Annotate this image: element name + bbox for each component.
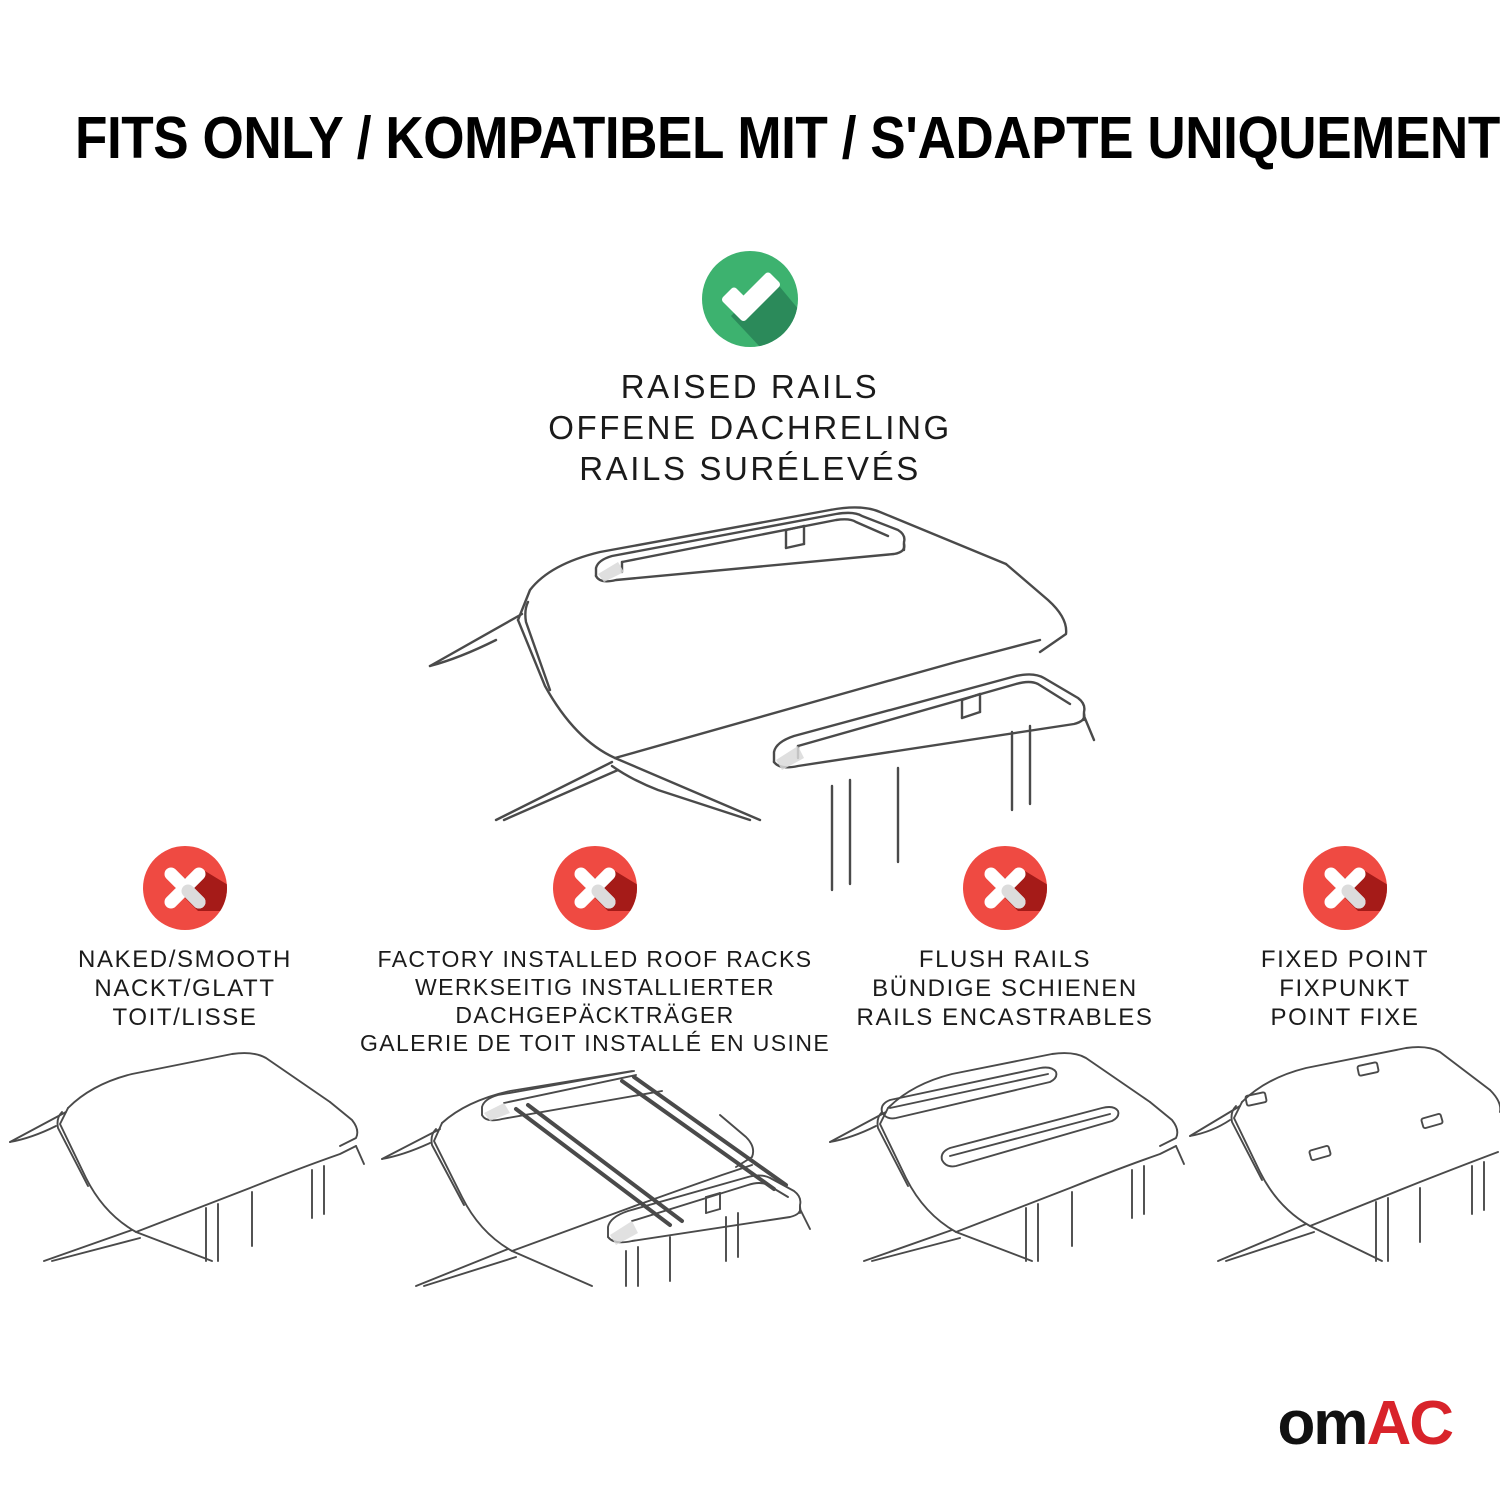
cross-circle-icon — [142, 845, 228, 931]
label-fr: POINT FIXE — [1261, 1003, 1429, 1032]
incompatible-labels-fixed-point: FIXED POINT FIXPUNKT POINT FIXE — [1261, 945, 1429, 1032]
label-de-2: DACHGEPÄCKTRÄGER — [360, 1001, 830, 1029]
compatible-label-fr: RAILS SURÉLEVÉS — [0, 448, 1500, 489]
label-en: FACTORY INSTALLED ROOF RACKS — [360, 945, 830, 973]
incompatible-item-naked-smooth: NAKED/SMOOTH NACKT/GLATT TOIT/LISSE — [0, 845, 370, 1261]
label-de-1: WERKSEITIG INSTALLIERTER — [360, 973, 830, 1001]
car-roof-raised-rails-illustration — [400, 490, 1100, 820]
incompatible-row: NAKED/SMOOTH NACKT/GLATT TOIT/LISSE — [0, 845, 1500, 1286]
compatible-section: RAISED RAILS OFFENE DACHRELING RAILS SUR… — [0, 250, 1500, 489]
label-en: NAKED/SMOOTH — [78, 945, 292, 974]
label-en: FIXED POINT — [1261, 945, 1429, 974]
fitment-infographic: FITS ONLY / KOMPATIBEL MIT / S'ADAPTE UN… — [0, 0, 1500, 1500]
incompatible-item-factory-roof-racks: FACTORY INSTALLED ROOF RACKS WERKSEITIG … — [370, 845, 820, 1286]
incompatible-item-fixed-point: FIXED POINT FIXPUNKT POINT FIXE — [1190, 845, 1500, 1261]
label-en: FLUSH RAILS — [857, 945, 1154, 974]
omac-logo: omAC — [1277, 1393, 1452, 1455]
page-title: FITS ONLY / KOMPATIBEL MIT / S'ADAPTE UN… — [75, 104, 1425, 172]
incompatible-labels-flush-rails: FLUSH RAILS BÜNDIGE SCHIENEN RAILS ENCAS… — [857, 945, 1154, 1032]
car-roof-fixed-point-illustration — [1190, 1046, 1500, 1261]
incompatible-labels-naked-smooth: NAKED/SMOOTH NACKT/GLATT TOIT/LISSE — [78, 945, 292, 1032]
label-fr: GALERIE DE TOIT INSTALLÉ EN USINE — [360, 1029, 830, 1057]
label-de: BÜNDIGE SCHIENEN — [857, 974, 1154, 1003]
cross-circle-icon — [1302, 845, 1388, 931]
label-de: NACKT/GLATT — [78, 974, 292, 1003]
check-circle-icon — [701, 250, 799, 348]
label-fr: RAILS ENCASTRABLES — [857, 1003, 1154, 1032]
car-roof-naked-smooth-illustration — [0, 1046, 370, 1261]
incompatible-labels-factory-roof-racks: FACTORY INSTALLED ROOF RACKS WERKSEITIG … — [360, 945, 830, 1057]
label-fr: TOIT/LISSE — [78, 1003, 292, 1032]
cross-circle-icon — [962, 845, 1048, 931]
car-roof-factory-roof-racks-illustration — [370, 1071, 820, 1286]
car-roof-flush-rails-illustration — [820, 1046, 1190, 1261]
compatible-label-en: RAISED RAILS — [0, 366, 1500, 407]
logo-text-om: om — [1277, 1393, 1366, 1455]
logo-text-ac: AC — [1366, 1393, 1452, 1455]
cross-circle-icon — [552, 845, 638, 931]
incompatible-item-flush-rails: FLUSH RAILS BÜNDIGE SCHIENEN RAILS ENCAS… — [820, 845, 1190, 1261]
label-de: FIXPUNKT — [1261, 974, 1429, 1003]
compatible-labels: RAISED RAILS OFFENE DACHRELING RAILS SUR… — [0, 366, 1500, 489]
compatible-label-de: OFFENE DACHRELING — [0, 407, 1500, 448]
